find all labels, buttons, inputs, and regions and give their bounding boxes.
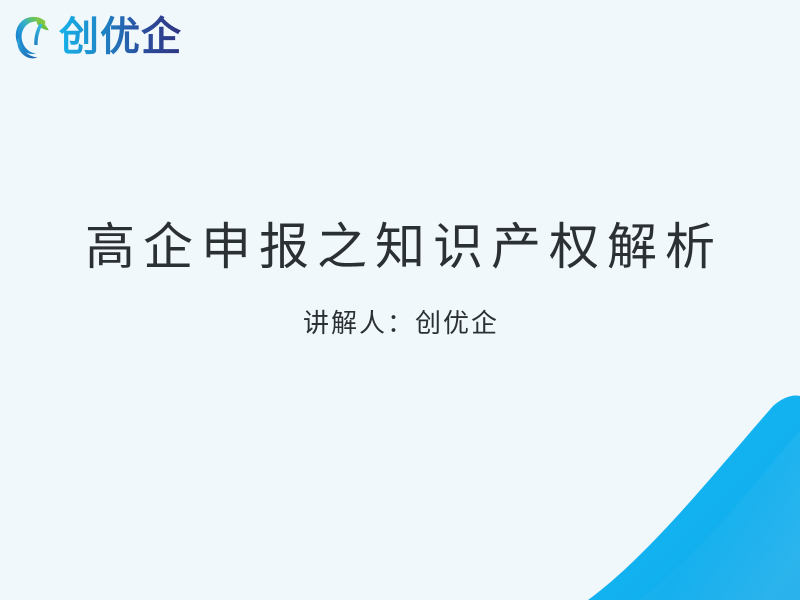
title-block: 高企申报之知识产权解析 讲解人：创优企	[0, 218, 800, 341]
slide-subtitle-presenter: 讲解人：创优企	[0, 277, 800, 341]
decoration-sheen-band	[640, 430, 800, 600]
page-title: 高企申报之知识产权解析	[0, 218, 800, 277]
logo-wordmark: 创优企	[59, 14, 187, 60]
circular-swoosh-check-logo-mark-icon	[11, 12, 57, 62]
presentation-slide: 创优企 高企申报之知识产权解析 讲解人：创优企	[0, 0, 800, 600]
decoration-wedge-shape	[588, 395, 800, 600]
logo-ascending-stem	[34, 24, 42, 45]
brand-logo: 创优企	[11, 11, 187, 63]
logo-wordmark-text: 创优企	[59, 14, 182, 59]
